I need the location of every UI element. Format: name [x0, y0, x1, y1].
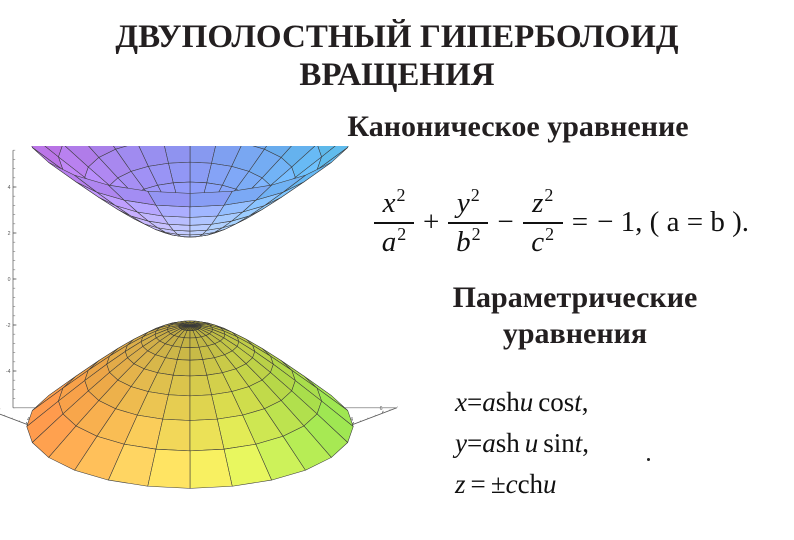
parametric-equation-z: z=±cchu: [455, 464, 589, 505]
title-line-1: ДВУПОЛОСТНЫЙ ГИПЕРБОЛОИД: [0, 18, 794, 56]
term-y-numerator: y2: [452, 188, 485, 219]
param-z-ch: ch: [518, 469, 543, 499]
equation-term-z: z2 c2: [523, 188, 563, 257]
hyperboloid-3d-plot: 420-2-4-6-4-202466420-2-4-6: [0, 146, 400, 540]
equation-operator-minus: −: [497, 206, 513, 239]
param-y-equals: =: [467, 428, 482, 458]
trailing-period: [647, 458, 650, 461]
param-z-equals: =: [471, 469, 486, 499]
param-x-u: u: [520, 387, 534, 417]
svg-text:0: 0: [8, 277, 11, 283]
param-x-coef: a: [482, 387, 496, 417]
term-y-denominator: b2: [451, 227, 485, 258]
param-x-comma: ,: [582, 387, 589, 417]
param-x-t: t: [574, 387, 582, 417]
equation-term-y: y2 b2: [448, 188, 488, 257]
fraction-bar: [448, 222, 488, 224]
slide-canvas: ДВУПОЛОСТНЫЙ ГИПЕРБОЛОИД ВРАЩЕНИЯ Канони…: [0, 0, 794, 540]
parametric-equation-y: y=ashusint,: [455, 423, 589, 464]
param-z-lhs: z: [455, 469, 466, 499]
title-line-2: ВРАЩЕНИЯ: [0, 56, 794, 94]
canonical-equation: x2 a2 + y2 b2 − z2 c2 = − 1, ( a = b ).: [372, 188, 749, 257]
param-z-coef: ±c: [491, 469, 518, 499]
param-z-u: u: [543, 469, 557, 499]
parametric-heading-line-2: уравнения: [380, 316, 770, 352]
svg-text:-4: -4: [6, 369, 11, 375]
param-x-equals: =: [467, 387, 482, 417]
parametric-heading-line-1: Параметрические: [453, 281, 698, 314]
parametric-equation-x: x=ashucost,: [455, 382, 589, 423]
term-z-numerator: z2: [527, 188, 558, 219]
svg-text:4: 4: [8, 185, 11, 191]
svg-text:-2: -2: [6, 323, 11, 329]
param-y-sh: sh: [496, 428, 520, 458]
surface-lower-sheet: [27, 321, 354, 488]
param-x-lhs: x: [455, 387, 467, 417]
param-y-lhs: y: [455, 428, 467, 458]
param-y-comma: ,: [582, 428, 589, 458]
equation-operator-plus: +: [423, 206, 439, 239]
fraction-bar: [523, 222, 563, 224]
parametric-equations-heading: Параметрические уравнения: [380, 280, 770, 352]
page-title: ДВУПОЛОСТНЫЙ ГИПЕРБОЛОИД ВРАЩЕНИЯ: [0, 18, 794, 94]
param-y-sin: sin: [543, 428, 575, 458]
param-y-coef: a: [482, 428, 496, 458]
surface-upper-sheet: [27, 146, 354, 237]
plot-svg: 420-2-4-6-4-202466420-2-4-6: [0, 146, 400, 540]
subtitle-canonical-equation: Каноническое уравнение: [258, 110, 778, 144]
equation-right-hand-side: − 1, ( a = b ).: [597, 206, 749, 239]
param-y-u: u: [525, 428, 539, 458]
parametric-equations-list: x=ashucost, y=ashusint, z=±cchu: [455, 382, 589, 505]
svg-text:2: 2: [8, 231, 11, 237]
equation-equals-sign: =: [572, 206, 588, 239]
svg-text:6: 6: [380, 406, 383, 412]
param-x-sh: sh: [496, 387, 520, 417]
param-x-cos: cos: [538, 387, 574, 417]
term-z-denominator: c2: [526, 227, 559, 258]
